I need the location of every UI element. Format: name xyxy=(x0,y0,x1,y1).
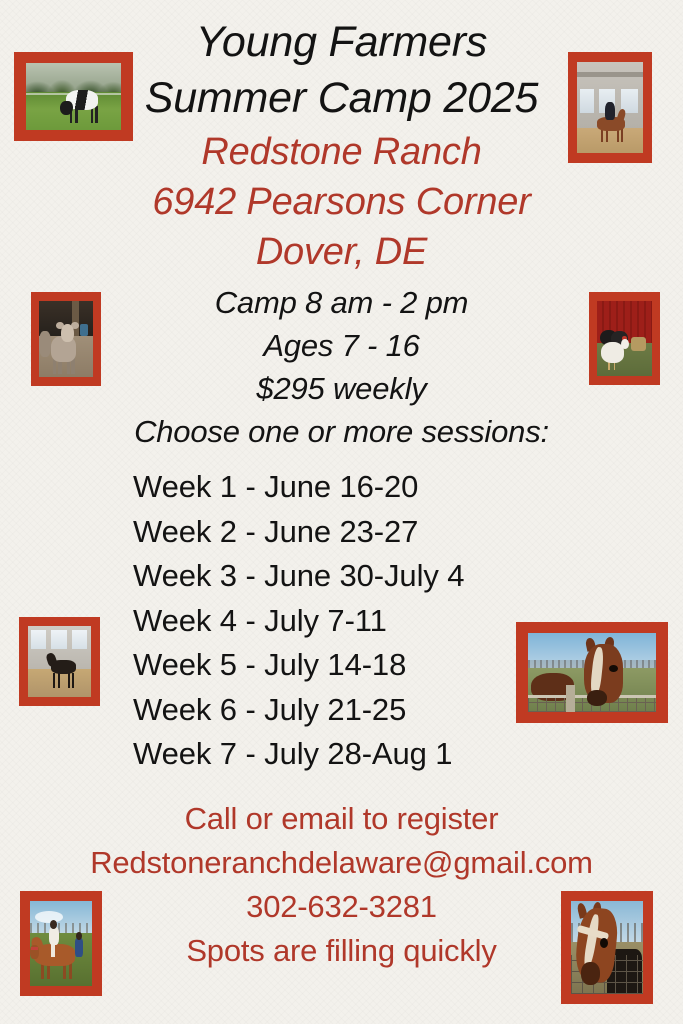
camp-details: Camp 8 am - 2 pm Ages 7 - 16 $295 weekly… xyxy=(0,281,683,453)
list-item: Week 3 - June 30-July 4 xyxy=(133,554,464,599)
camp-price: $295 weekly xyxy=(0,367,683,410)
photo-goat-in-barn xyxy=(31,292,101,386)
photo-two-horses-fence-image xyxy=(528,633,656,712)
photo-cow-grazing xyxy=(14,52,133,141)
photo-arena-rider-image xyxy=(577,62,643,153)
list-item: Week 5 - July 14-18 xyxy=(133,643,464,688)
list-item: Week 4 - July 7-11 xyxy=(133,599,464,644)
photo-arena-rider xyxy=(568,52,652,163)
photo-chickens-red-barn-image xyxy=(597,301,652,376)
list-item: Week 6 - July 21-25 xyxy=(133,688,464,733)
venue-city-state: Dover, DE xyxy=(0,227,683,277)
camp-flyer: Young Farmers Summer Camp 2025 Redstone … xyxy=(0,0,683,1024)
contact-email[interactable]: Redstoneranchdelaware@gmail.com xyxy=(0,841,683,885)
photo-cow-grazing-image xyxy=(26,63,121,130)
photo-arena-dark-horse-image xyxy=(28,626,91,697)
photo-child-riding-horse xyxy=(20,891,102,996)
camp-ages: Ages 7 - 16 xyxy=(0,324,683,367)
sessions-prompt: Choose one or more sessions: xyxy=(0,410,683,453)
session-week-list: Week 1 - June 16-20 Week 2 - June 23-27 … xyxy=(133,465,464,777)
list-item: Week 7 - July 28-Aug 1 xyxy=(133,732,464,777)
list-item: Week 2 - June 23-27 xyxy=(133,510,464,555)
photo-child-riding-horse-image xyxy=(30,901,92,986)
photo-goat-in-barn-image xyxy=(39,301,93,377)
list-item: Week 1 - June 16-20 xyxy=(133,465,464,510)
venue-street: 6942 Pearsons Corner xyxy=(0,177,683,227)
photo-arena-dark-horse xyxy=(19,617,100,706)
register-instruction: Call or email to register xyxy=(0,797,683,841)
photo-chickens-red-barn xyxy=(589,292,660,385)
camp-hours: Camp 8 am - 2 pm xyxy=(0,281,683,324)
photo-horse-closeup-image xyxy=(571,901,643,994)
photo-horse-closeup xyxy=(561,891,653,1004)
photo-two-horses-fence xyxy=(516,622,668,723)
